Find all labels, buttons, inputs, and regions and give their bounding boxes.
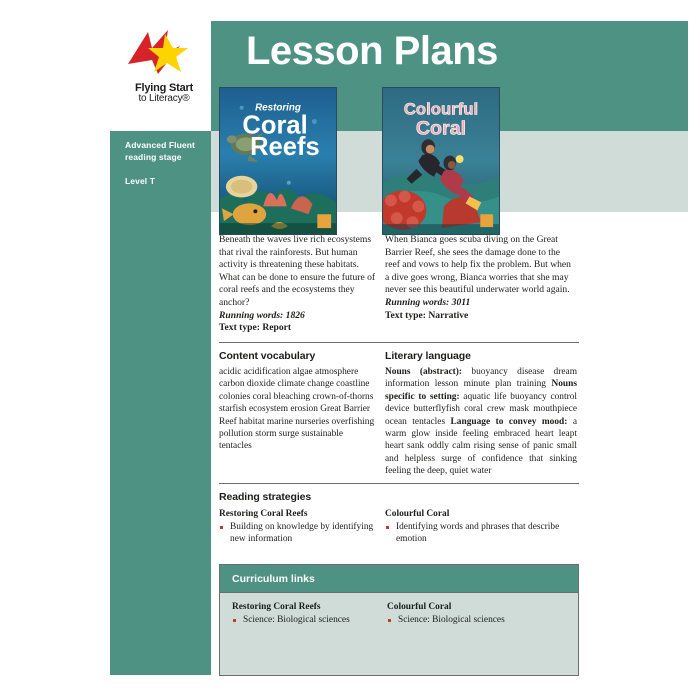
lit-group-0: Nouns (abstract): buoyancy disease dream… [385, 367, 577, 389]
reading-strategies-section: Reading strategies [219, 491, 579, 507]
content-vocabulary-words: acidic acidification algae atmosphere ca… [219, 366, 377, 453]
sidebar-level: Level T [125, 176, 215, 188]
blurb-text-book2: When Bianca goes scuba diving on the Gre… [385, 234, 577, 297]
reading-strategies-book-2: Colourful Coral [385, 509, 577, 519]
reading-strategies-column-1: Restoring Coral Reefs Building on knowle… [219, 509, 377, 547]
reading-strategies-list-1: Building on knowledge by identifying new… [219, 521, 377, 545]
literary-language-heading: Literary language [385, 350, 577, 362]
sidebar-labels: Advanced Fluent reading stage Level T [125, 140, 215, 188]
cover-title-line2: Reefs [250, 133, 320, 161]
book-cover-restoring-coral-reefs[interactable]: Restoring Coral Reefs [219, 87, 337, 235]
curriculum-links-body: Restoring Coral Reefs Science: Biologica… [220, 593, 578, 611]
lit-group-0-label: Nouns (abstract): [385, 367, 462, 377]
reading-strategies-column-2: Colourful Coral Identifying words and ph… [385, 509, 577, 547]
literary-language-body: Nouns (abstract): buoyancy disease dream… [385, 366, 577, 478]
list-item: Identifying words and phrases that descr… [385, 521, 577, 545]
reading-strategies-heading: Reading strategies [219, 491, 579, 503]
curriculum-links-list-2: Science: Biological sciences [387, 614, 567, 626]
curriculum-links-heading: Curriculum links [220, 565, 578, 593]
text-type-book1: Text type: Report [219, 322, 377, 335]
list-item: Building on knowledge by identifying new… [219, 521, 377, 545]
blurb-column-right: When Bianca goes scuba diving on the Gre… [385, 234, 577, 322]
curriculum-links-list-1: Science: Biological sciences [232, 614, 392, 626]
running-words-book2: Running words: 3011 [385, 297, 577, 310]
content-vocabulary-heading: Content vocabulary [219, 350, 377, 362]
lit-group-2-label: Language to convey mood: [451, 417, 568, 427]
blurb-column-left: Beneath the waves live rich ecosystems t… [219, 234, 377, 335]
cover-artwork-coral-reefs: Restoring Coral Reefs [220, 88, 336, 234]
list-item: Science: Biological sciences [232, 614, 392, 626]
lesson-plan-page: Flying Start to Literacy® Lesson Plans A… [0, 0, 700, 700]
section-divider-1 [219, 342, 579, 343]
curriculum-links-column-1: Restoring Coral Reefs Science: Biologica… [232, 602, 392, 628]
curriculum-links-panel: Curriculum links Restoring Coral Reefs S… [219, 564, 579, 676]
book-cover-colourful-coral[interactable]: Colourful Coral [382, 87, 500, 235]
cover-title-line1: Colourful [404, 100, 478, 119]
literary-language-section: Literary language Nouns (abstract): buoy… [385, 350, 577, 478]
reading-strategies-book-1: Restoring Coral Reefs [219, 509, 377, 519]
curriculum-links-column-2: Colourful Coral Science: Biological scie… [387, 602, 567, 628]
logo-wordmark-line2: to Literacy® [118, 93, 210, 104]
content-vocabulary-section: Content vocabulary acidic acidification … [219, 350, 377, 453]
cover-artwork-colourful-coral: Colourful Coral [383, 88, 499, 234]
text-type-book2: Text type: Narrative [385, 310, 577, 323]
curriculum-links-book-1: Restoring Coral Reefs [232, 602, 392, 612]
section-divider-2 [219, 483, 579, 484]
curriculum-links-book-2: Colourful Coral [387, 602, 567, 612]
running-words-book1: Running words: 1826 [219, 310, 377, 323]
page-title: Lesson Plans [246, 28, 498, 74]
sidebar-reading-stage: Advanced Fluent reading stage [125, 140, 215, 163]
brand-logo: Flying Start to Literacy® [118, 24, 210, 124]
blurb-text-book1: Beneath the waves live rich ecosystems t… [219, 234, 377, 310]
cover-title-line2: Coral [416, 117, 466, 139]
flying-star-icon [118, 24, 210, 80]
sidebar-column [110, 131, 211, 675]
reading-strategies-list-2: Identifying words and phrases that descr… [385, 521, 577, 545]
list-item: Science: Biological sciences [387, 614, 567, 626]
